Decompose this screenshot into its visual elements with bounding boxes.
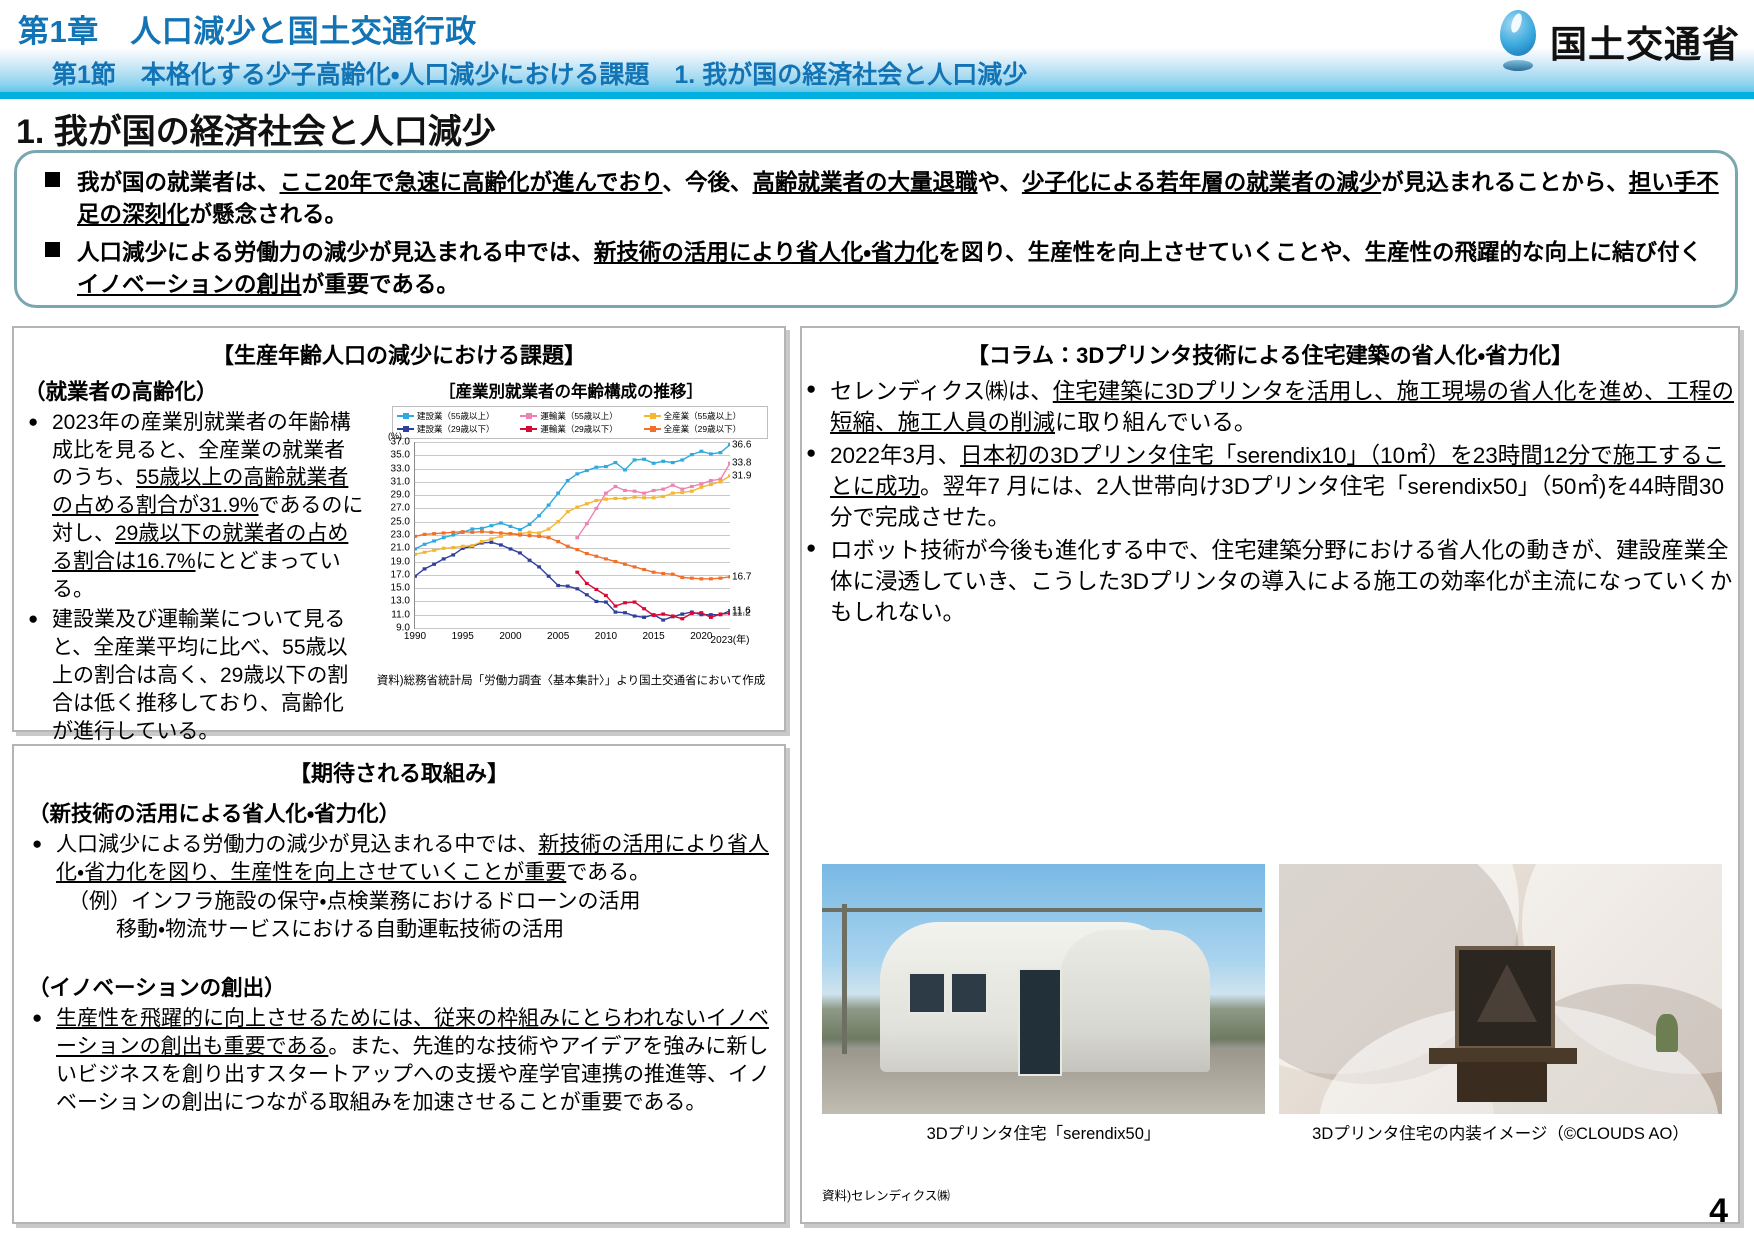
series-marker [642,458,646,461]
legend-item: 運輸業（29歳以下） [520,423,639,435]
series-marker [442,531,446,534]
ministry-logo: 国土交通省 [1494,10,1740,72]
legend-swatch-icon [644,428,661,430]
y-axis-tick-label: 11.0 [391,609,410,620]
y-axis-tick-label: 23.0 [391,530,410,541]
legend-label: 運輸業（55歳以上） [540,410,617,422]
legend-item: 建設業（29歳以下） [397,423,516,435]
series-marker [423,533,427,536]
x-axis-tick-label: 2020 [690,631,712,642]
bullet-dot-icon: ● [806,380,816,397]
series-marker [566,585,570,588]
series-marker [680,491,684,494]
series-line [415,532,730,579]
series-marker [671,614,675,617]
series-marker [423,551,427,554]
series-marker [604,465,608,468]
y-axis-tick-label: 33.0 [391,463,410,474]
series-marker [470,527,474,530]
photo-block-1: 3Dプリンタ住宅「serendix50」 [822,864,1265,1144]
series-end-label: 31.9 [732,470,751,481]
series-marker [585,593,589,596]
x-axis-tick-label: 2010 [595,631,617,642]
series-marker [671,461,675,464]
initiatives-subhead-1: （新技術の活用による省人化・省力化） [28,800,770,829]
panel-initiatives: 【期待される取組み】 （新技術の活用による省人化・省力化） ●人口減少による労働… [12,744,786,1224]
series-marker [642,568,646,571]
series-marker [642,492,646,495]
initiatives-example-1: （例）インフラ施設の保守・点検業務におけるドローンの活用 [28,888,770,916]
series-marker [489,541,493,544]
bullet-dot-icon: ● [806,539,816,556]
series-marker [585,522,589,525]
chart-y-axis: 9.011.013.015.017.019.021.023.025.027.02… [370,442,414,628]
series-marker [451,546,455,549]
legend-label: 運輸業（29歳以下） [540,423,617,435]
panel-issues-bullets: ●2023年の産業別就業者の年齢構成比を見ると、全産業の就業者のうち、55歳以上… [24,409,364,746]
series-marker [451,553,455,556]
series-marker [661,612,665,615]
series-marker [661,495,665,498]
legend-item: 運輸業（55歳以上） [520,410,639,422]
series-marker [604,600,608,603]
series-marker [699,611,703,614]
series-marker [690,490,694,493]
grid-line [415,628,730,629]
legend-swatch-icon [397,415,414,417]
series-marker [509,525,513,528]
ministry-name: 国土交通省 [1550,14,1740,68]
chart-plot-area: (%) 9.011.013.015.017.019.021.023.025.02… [370,442,774,654]
series-marker [575,506,579,509]
bullet-dot-icon: ● [806,444,816,461]
legend-swatch-icon [520,428,537,430]
series-marker [442,536,446,539]
series-marker [432,539,436,542]
series-marker [633,600,637,603]
series-marker [594,555,598,558]
summary-bullet: 人口減少による労働力の減少が見込まれる中では、新技術の活用により省人化・省力化を… [37,237,1719,301]
series-end-label: 11.2 [732,608,751,619]
series-marker [661,488,665,491]
series-marker [451,531,455,534]
series-marker [642,616,646,619]
column-source-note: 資料)セレンディクス㈱ [822,1185,950,1204]
series-marker [461,545,465,548]
series-marker [699,486,703,489]
series-marker [709,616,713,619]
legend-item: 建設業（55歳以上） [397,410,516,422]
series-marker [652,496,656,499]
series-marker [518,528,522,531]
chart-end-labels: 36.611.633.811.231.916.7 [730,442,774,628]
series-marker [719,612,723,615]
series-marker [604,594,608,597]
bullet-dot-icon: ● [28,413,38,430]
series-marker [652,614,656,617]
legend-item: 全産業（29歳以下） [644,423,763,435]
legend-item: 全産業（55歳以上） [644,410,763,422]
series-marker [537,565,541,568]
series-marker [518,533,522,536]
initiatives-bullet-2-list: ●生産性を飛躍的に向上させるためには、従来の枠組みにとらわれないイノベーションの… [28,1005,770,1117]
series-marker [509,532,513,535]
panel-column-bullets: ●セレンディクス㈱は、住宅建築に3Dプリンタを活用し、施工現場の省人化を進め、工… [802,376,1738,628]
summary-bullet-list: 我が国の就業者は、ここ20年で急速に高齢化が進んでおり、今後、高齢就業者の大量退… [17,153,1735,301]
series-marker [415,553,417,556]
series-marker [415,535,417,538]
series-marker [556,492,560,495]
series-marker [575,587,579,590]
y-axis-tick-label: 17.0 [391,569,410,580]
series-marker [633,565,637,568]
series-marker [594,588,598,591]
series-marker [614,604,618,607]
series-marker [499,535,503,538]
series-marker [604,557,608,560]
series-marker [547,575,551,578]
page-header: 第1章 人口減少と国土交通行政 第1節 本格化する少子高齢化・人口減少における課… [0,0,1754,96]
series-marker [556,520,560,523]
summary-bullet: 我が国の就業者は、ここ20年で急速に高齢化が進んでおり、今後、高齢就業者の大量退… [37,167,1719,231]
series-marker [585,552,589,555]
initiatives-bullet-1-list: ●人口減少による労働力の減少が見込まれる中では、新技術の活用により省人化・省力化… [28,831,770,887]
series-marker [614,560,618,563]
series-line [415,542,730,620]
series-marker [642,496,646,499]
series-marker [642,607,646,610]
series-marker [671,484,675,487]
series-marker [699,482,703,485]
bullet-dot-icon: ● [32,835,42,852]
section-title: 第1節 本格化する少子高齢化・人口減少における課題 1. 我が国の経済社会と人口… [52,55,1027,91]
y-axis-tick-label: 27.0 [391,503,410,514]
series-marker [661,618,665,621]
series-marker [537,531,541,534]
series-marker [432,549,436,552]
legend-label: 建設業（55歳以上） [417,410,494,422]
series-marker [594,507,598,510]
panel-initiatives-heading: 【期待される取組み】 [14,756,784,788]
series-marker [575,536,579,539]
series-marker [566,545,570,548]
series-marker [537,514,541,517]
series-marker [709,483,713,486]
photo-interior-image [1279,864,1722,1114]
x-axis-tick-label: 1990 [404,631,426,642]
legend-label: 建設業（29歳以下） [417,423,494,435]
x-axis-tick-label: 1995 [452,631,474,642]
series-marker [623,601,627,604]
list-item: ●2023年の産業別就業者の年齢構成比を見ると、全産業の就業者のうち、55歳以上… [24,409,364,604]
list-item: ●セレンディクス㈱は、住宅建築に3Dプリンタを活用し、施工現場の省人化を進め、工… [802,376,1738,438]
summary-box: 我が国の就業者は、ここ20年で急速に高齢化が進んでおり、今後、高齢就業者の大量退… [14,150,1738,308]
series-marker [585,469,589,472]
series-marker [461,530,465,533]
y-axis-tick-label: 29.0 [391,490,410,501]
series-marker [575,571,579,574]
series-marker [614,461,618,464]
series-marker [623,611,627,614]
series-marker [594,499,598,502]
series-marker [489,537,493,540]
series-marker [680,458,684,461]
legend-label: 全産業（55歳以上） [664,410,741,422]
series-marker [614,610,618,613]
y-axis-tick-label: 19.0 [391,556,410,567]
series-marker [699,577,703,580]
panel-issues-text: （就業者の高齢化） ●2023年の産業別就業者の年齢構成比を見ると、全産業の就業… [24,376,364,748]
series-marker [499,543,503,546]
series-marker [604,492,608,495]
legend-label: 全産業（29歳以下） [664,423,741,435]
series-marker [528,531,532,534]
series-marker [719,480,723,483]
series-marker [547,527,551,530]
series-marker [699,450,703,453]
series-marker [652,462,656,465]
y-axis-tick-label: 31.0 [391,476,410,487]
panel-column-heading: 【コラム：3Dプリンタ技術による住宅建築の省人化・省力化】 [802,338,1738,370]
series-marker [423,567,427,570]
series-marker [470,531,474,534]
series-marker [709,577,713,580]
series-marker [470,544,474,547]
page-number: 4 [1709,1192,1728,1231]
series-marker [671,492,675,495]
chart-legend: 建設業（55歳以上）運輸業（55歳以上）全産業（55歳以上）建設業（29歳以下）… [392,406,768,439]
page-title: 1. 我が国の経済社会と人口減少 [16,104,496,153]
panel-column: 【コラム：3Dプリンタ技術による住宅建築の省人化・省力化】 ●セレンディクス㈱は… [800,326,1740,1224]
series-marker [623,489,627,492]
series-marker [442,547,446,550]
y-axis-tick-label: 15.0 [391,583,410,594]
ministry-drop-logo-icon [1494,10,1542,72]
initiatives-example-2: 移動・物流サービスにおける自動運転技術の活用 [28,916,770,944]
series-marker [499,531,503,534]
series-marker [661,572,665,575]
bullet-dot-icon: ● [32,1009,42,1026]
list-item: ●生産性を飛躍的に向上させるためには、従来の枠組みにとらわれないイノベーションの… [28,1005,770,1117]
series-marker [661,460,665,463]
series-marker [566,479,570,482]
series-marker [423,543,427,546]
series-marker [709,479,713,482]
series-marker [547,504,551,507]
series-marker [623,563,627,566]
series-marker [680,612,684,615]
series-marker [690,453,694,456]
series-marker [594,466,598,469]
y-axis-tick-label: 21.0 [391,543,410,554]
series-marker [633,614,637,617]
series-marker [537,535,541,538]
series-marker [585,502,589,505]
series-marker [680,576,684,579]
series-marker [509,547,513,550]
photo-row: 3Dプリンタ住宅「serendix50」 3Dプリンタ住宅の内装イメージ（©CL… [822,864,1722,1144]
series-marker [518,551,522,554]
series-marker [680,617,684,620]
initiatives-subhead-2: （イノベーションの創出） [28,974,770,1003]
series-marker [690,577,694,580]
series-marker [633,490,637,493]
series-marker [623,497,627,500]
series-marker [489,531,493,534]
series-marker [585,582,589,585]
series-marker [614,485,618,488]
series-marker [614,497,618,500]
list-item: ●ロボット技術が今後も進化する中で、住宅建築分野における省人化の動きが、建設産業… [802,535,1738,628]
chart-series-svg [415,442,730,628]
series-marker [415,547,417,550]
list-item: ●2022年3月、日本初の3Dプリンタ住宅「serendix10」（10㎡）を2… [802,440,1738,533]
series-marker [556,584,560,587]
series-marker [432,532,436,535]
series-marker [633,496,637,499]
photo-block-2: 3Dプリンタ住宅の内装イメージ（©CLOUDS AO） [1279,864,1722,1144]
header-rule [0,92,1754,99]
series-marker [709,452,713,455]
series-marker [432,563,436,566]
x-axis-tick-label: 2015 [643,631,665,642]
x-axis-tick-label: 2000 [499,631,521,642]
y-axis-tick-label: 25.0 [391,516,410,527]
series-marker [566,510,570,513]
panel-issues-heading: 【生産年齢人口の減少における課題】 [14,338,784,370]
series-marker [652,489,656,492]
x-axis-tick-label: 2023(年) [711,631,750,646]
list-item: ●建設業及び運輸業について見ると、全産業平均に比べ、55歳以上の割合は高く、29… [24,606,364,746]
square-bullet-icon [45,242,60,257]
legend-swatch-icon [644,415,661,417]
chart-source-note: 資料)総務省統計局「労働力調査〈基本集計〉」より国土交通省において作成 [368,672,774,688]
chart-canvas: 19901995200020052010201520202023(年) [414,442,730,629]
series-marker [489,524,493,527]
series-end-label: 33.8 [732,458,751,469]
series-marker [528,559,532,562]
photo-3dprinted-house [822,864,1265,1114]
initiatives-bullet-1-text: 人口減少による労働力の減少が見込まれる中では、新技術の活用により省人化・省力化を… [56,833,769,884]
series-marker [652,571,656,574]
x-axis-tick-label: 2005 [547,631,569,642]
series-marker [442,557,446,560]
series-marker [415,575,417,578]
chart-container: ［産業別就業者の年齢構成の推移］ 建設業（55歳以上）運輸業（55歳以上）全産業… [364,376,774,748]
series-marker [623,468,627,471]
series-marker [575,472,579,475]
series-end-label: 16.7 [732,571,751,582]
series-marker [547,536,551,539]
series-marker [556,540,560,543]
y-axis-tick-label: 35.0 [391,450,410,461]
photo-caption-2: 3Dプリンタ住宅の内装イメージ（©CLOUDS AO） [1279,1120,1722,1144]
photo-caption-1: 3Dプリンタ住宅「serendix50」 [822,1120,1265,1144]
series-marker [690,485,694,488]
series-marker [719,577,723,580]
series-marker [480,540,484,543]
list-item: ●人口減少による労働力の減少が見込まれる中では、新技術の活用により省人化・省力化… [28,831,770,887]
y-axis-tick-label: 13.0 [391,596,410,607]
series-marker [604,498,608,501]
series-marker [680,488,684,491]
panel-issues-subhead: （就業者の高齢化） [24,378,364,407]
legend-swatch-icon [397,428,414,430]
legend-swatch-icon [520,415,537,417]
series-marker [480,530,484,533]
square-bullet-icon [45,172,60,187]
series-end-label: 36.6 [732,439,751,450]
series-marker [671,573,675,576]
series-marker [499,521,503,524]
chapter-title: 第1章 人口減少と国土交通行政 [18,6,477,51]
series-marker [480,527,484,530]
panel-issues: 【生産年齢人口の減少における課題】 （就業者の高齢化） ●2023年の産業別就業… [12,326,786,732]
series-marker [528,523,532,526]
series-marker [575,548,579,551]
series-marker [528,534,532,537]
series-marker [690,612,694,615]
series-marker [633,458,637,461]
series-marker [594,600,598,603]
y-axis-tick-label: 37.0 [391,437,410,448]
initiatives-bullet-2-text: 生産性を飛躍的に向上させるためには、従来の枠組みにとらわれないイノベーションの創… [56,1007,770,1114]
bullet-dot-icon: ● [28,610,38,627]
chart-title: ［産業別就業者の年齢構成の推移］ [368,378,774,402]
series-marker [719,451,723,454]
